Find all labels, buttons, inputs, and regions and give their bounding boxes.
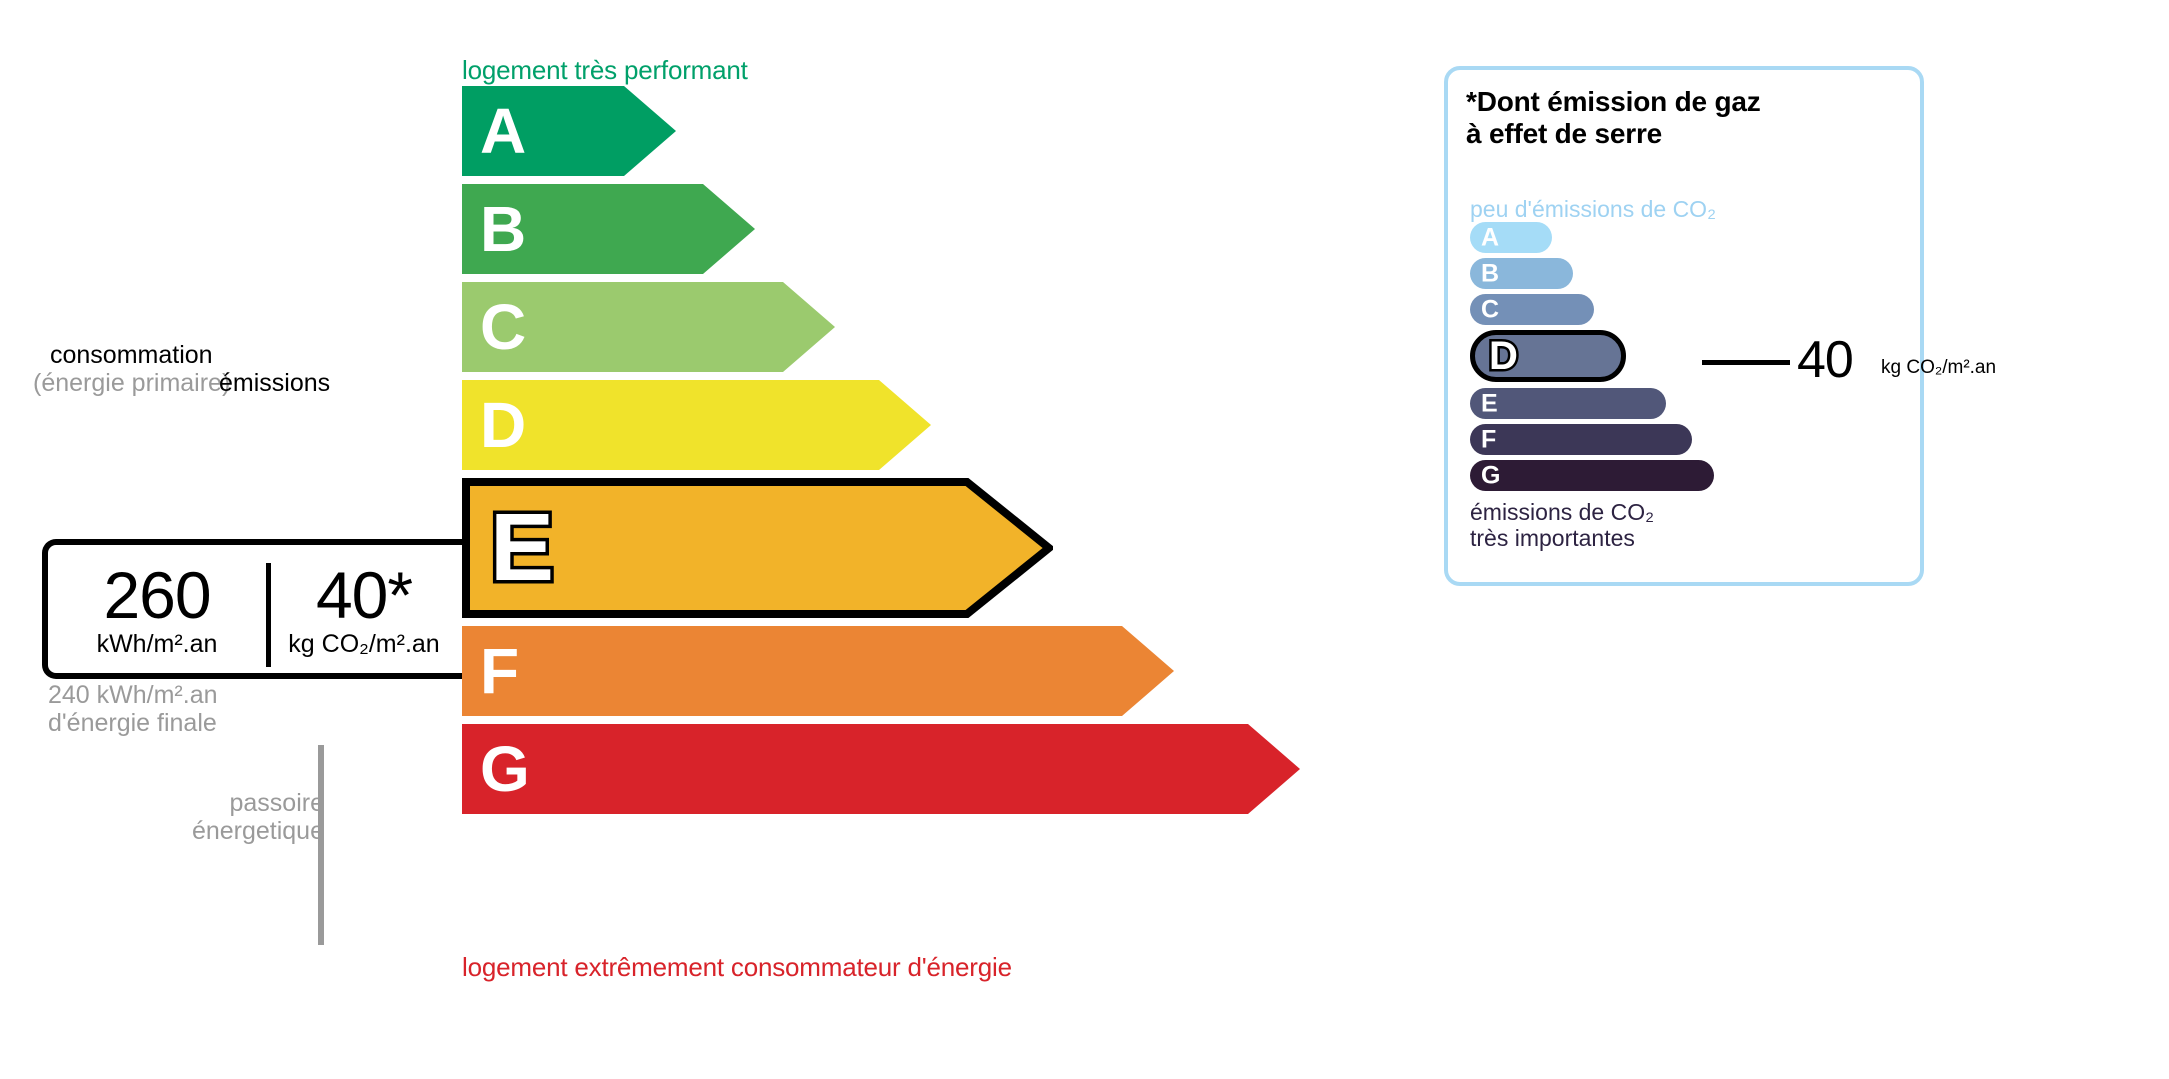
ges-title: *Dont émission de gaz à effet de serre [1466, 86, 1761, 150]
ges-class-letter-g: G [1481, 463, 1500, 488]
energy-class-f: F [462, 626, 1174, 716]
ges-class-g: G [1470, 460, 1714, 491]
energy-performance-chart: logement très performant ABCDEFG logemen… [0, 0, 1300, 1079]
energy-arrow-c: C [462, 282, 835, 372]
energy-arrow-g: G [462, 724, 1300, 814]
energy-class-letter-f: F [480, 639, 519, 703]
ges-class-letter-c: C [1481, 297, 1499, 322]
energy-arrow-shape-d [462, 380, 931, 470]
energy-arrow-a: A [462, 86, 676, 176]
energy-class-g: G [462, 724, 1300, 814]
emission-unit: kg CO₂/m².an [288, 632, 439, 657]
label-energie-finale: 240 kWh/m².an d'énergie finale [48, 681, 218, 737]
energy-top-legend: logement très performant [462, 55, 748, 86]
energy-arrow-d: D [462, 380, 931, 470]
ges-bottom-legend: émissions de CO₂ très importantes [1470, 499, 1654, 551]
ges-bar-e: E [1470, 388, 1666, 419]
ges-title-line2: à effet de serre [1466, 118, 1761, 150]
ges-bar-d: D [1470, 330, 1626, 382]
energie-finale-line2: d'énergie finale [48, 709, 218, 737]
energie-finale-line1: 240 kWh/m².an [48, 681, 218, 709]
energy-class-letter-d: D [480, 393, 526, 457]
energy-arrow-shape-g [462, 724, 1300, 814]
ges-leader-line [1702, 360, 1790, 365]
ges-bar-c: C [1470, 294, 1594, 325]
ges-bar-f: F [1470, 424, 1692, 455]
energy-class-e: E [462, 478, 1053, 618]
consumption-unit: kWh/m².an [97, 632, 218, 657]
energy-class-c: C [462, 282, 835, 372]
ges-class-letter-e: E [1481, 391, 1498, 416]
ges-class-d: D [1470, 330, 1714, 382]
ges-class-a: A [1470, 222, 1714, 253]
ges-value-unit: kg CO₂/m².an [1881, 358, 1996, 377]
ges-value: 40 [1797, 334, 1853, 386]
ges-class-letter-a: A [1481, 225, 1499, 250]
emission-value: 40* [316, 562, 412, 628]
energy-class-d: D [462, 380, 931, 470]
energy-class-letter-b: B [480, 197, 526, 261]
energy-arrow-f: F [462, 626, 1174, 716]
energy-arrow-e: E [462, 478, 1053, 618]
ges-top-legend: peu d'émissions de CO₂ [1470, 196, 1716, 223]
ges-bottom-legend-line2: très importantes [1470, 525, 1654, 551]
label-energie-primaire: (énergie primaire) [33, 369, 230, 397]
passoire-line1: passoire [124, 789, 324, 817]
ges-class-c: C [1470, 294, 1714, 325]
ges-title-line1: *Dont émission de gaz [1466, 86, 1761, 118]
energy-class-letter-c: C [480, 295, 526, 359]
ges-class-letter-d: D [1489, 336, 1518, 376]
ges-class-letter-b: B [1481, 261, 1499, 286]
ges-bar-b: B [1470, 258, 1573, 289]
ges-class-b: B [1470, 258, 1714, 289]
ges-bar-g: G [1470, 460, 1714, 491]
ges-class-bars: ABCDEFG [1470, 222, 1714, 496]
consumption-value: 260 [103, 562, 210, 628]
ges-class-letter-f: F [1481, 427, 1496, 452]
energy-bottom-legend: logement extrêmement consommateur d'éner… [462, 952, 1012, 983]
energy-class-letter-a: A [480, 99, 526, 163]
value-box: 260 kWh/m².an 40* kg CO₂/m².an [42, 539, 462, 679]
consumption-cell: 260 kWh/m².an [48, 545, 266, 673]
energy-arrow-shape-f [462, 626, 1174, 716]
label-emissions: émissions [219, 369, 330, 397]
energy-arrow-b: B [462, 184, 755, 274]
passoire-divider-line [318, 745, 324, 945]
ges-bar-a: A [1470, 222, 1552, 253]
energy-class-a: A [462, 86, 676, 176]
ges-class-f: F [1470, 424, 1714, 455]
energy-class-letter-g: G [480, 737, 530, 801]
label-passoire-energetique: passoire énergetique [124, 789, 324, 845]
ges-class-e: E [1470, 388, 1714, 419]
ges-bottom-legend-line1: émissions de CO₂ [1470, 499, 1654, 525]
energy-class-b: B [462, 184, 755, 274]
label-consommation: consommation [50, 341, 213, 369]
energy-class-letter-e: E [490, 500, 554, 596]
emission-cell: 40* kg CO₂/m².an [266, 545, 462, 673]
passoire-line2: énergetique [124, 817, 324, 845]
